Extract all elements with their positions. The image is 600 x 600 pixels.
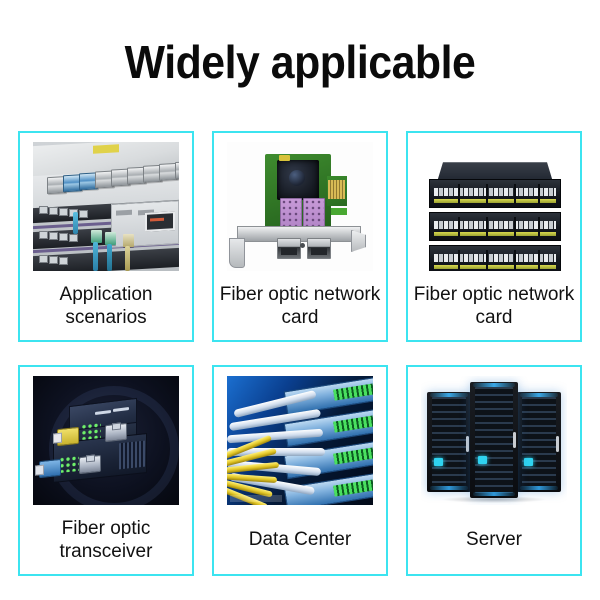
- card-grid: Application scenarios Fiber optic netw: [18, 131, 582, 571]
- card-data-center[interactable]: Data Center: [212, 365, 388, 576]
- card-label: Application scenarios: [20, 271, 192, 340]
- card-label: Data Center: [214, 505, 386, 574]
- server-racks-image: [421, 376, 567, 505]
- card-server[interactable]: Server: [406, 365, 582, 576]
- page-title: Widely applicable: [21, 34, 579, 90]
- fiber-optic-transceiver-image: [33, 376, 179, 505]
- card-fiber-optic-transceiver[interactable]: Fiber optic transceiver: [18, 365, 194, 576]
- card-label: Fiber optic network card: [214, 271, 386, 340]
- card-fiber-optic-network-card-switches[interactable]: Fiber optic network card: [406, 131, 582, 342]
- card-label: Server: [408, 505, 580, 574]
- card-fiber-optic-network-card-pcie[interactable]: Fiber optic network card: [212, 131, 388, 342]
- fiber-optic-network-card-image: [227, 142, 373, 271]
- card-label: Fiber optic network card: [408, 271, 580, 340]
- stacked-switches-image: [421, 142, 567, 271]
- card-application-scenarios[interactable]: Application scenarios: [18, 131, 194, 342]
- data-center-image: [227, 376, 373, 505]
- poster-root: Widely applicable: [0, 0, 600, 600]
- application-scenarios-image: [33, 142, 179, 271]
- card-label: Fiber optic transceiver: [20, 505, 192, 574]
